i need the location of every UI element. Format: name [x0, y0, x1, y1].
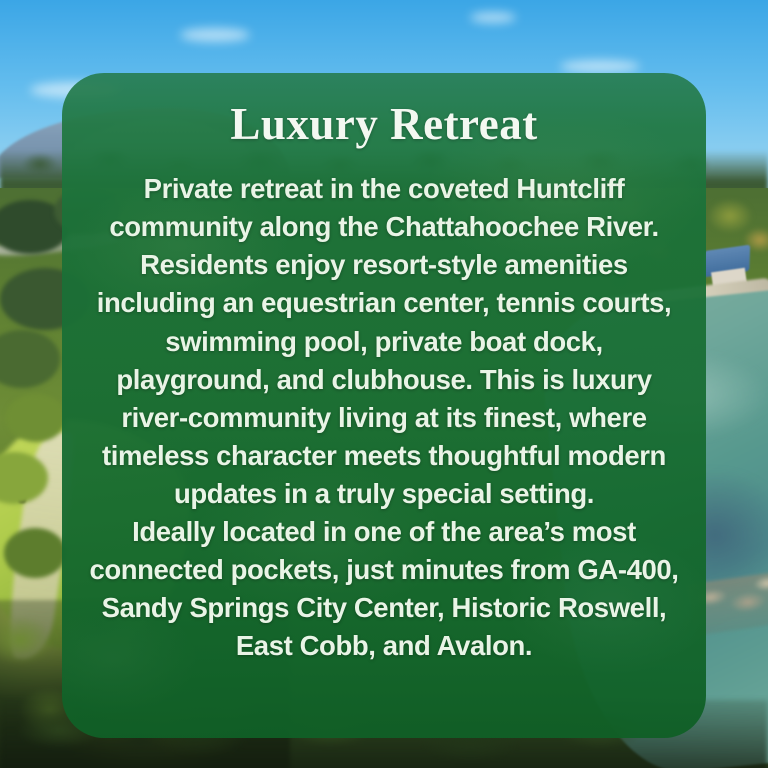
tree-cluster — [6, 394, 66, 442]
listing-promo-image: Luxury Retreat Private retreat in the co… — [0, 0, 768, 768]
cloud — [470, 12, 516, 23]
tree-cluster — [4, 528, 66, 578]
description-paragraph-1: Private retreat in the coveted Huntcliff… — [88, 170, 680, 513]
page-title: Luxury Retreat — [230, 101, 537, 148]
cloud — [180, 28, 250, 42]
cloud — [560, 60, 640, 73]
description-text: Private retreat in the coveted Huntcliff… — [88, 170, 680, 665]
text-overlay-card: Luxury Retreat Private retreat in the co… — [62, 73, 706, 738]
description-paragraph-2: Ideally located in one of the area’s mos… — [88, 513, 680, 665]
